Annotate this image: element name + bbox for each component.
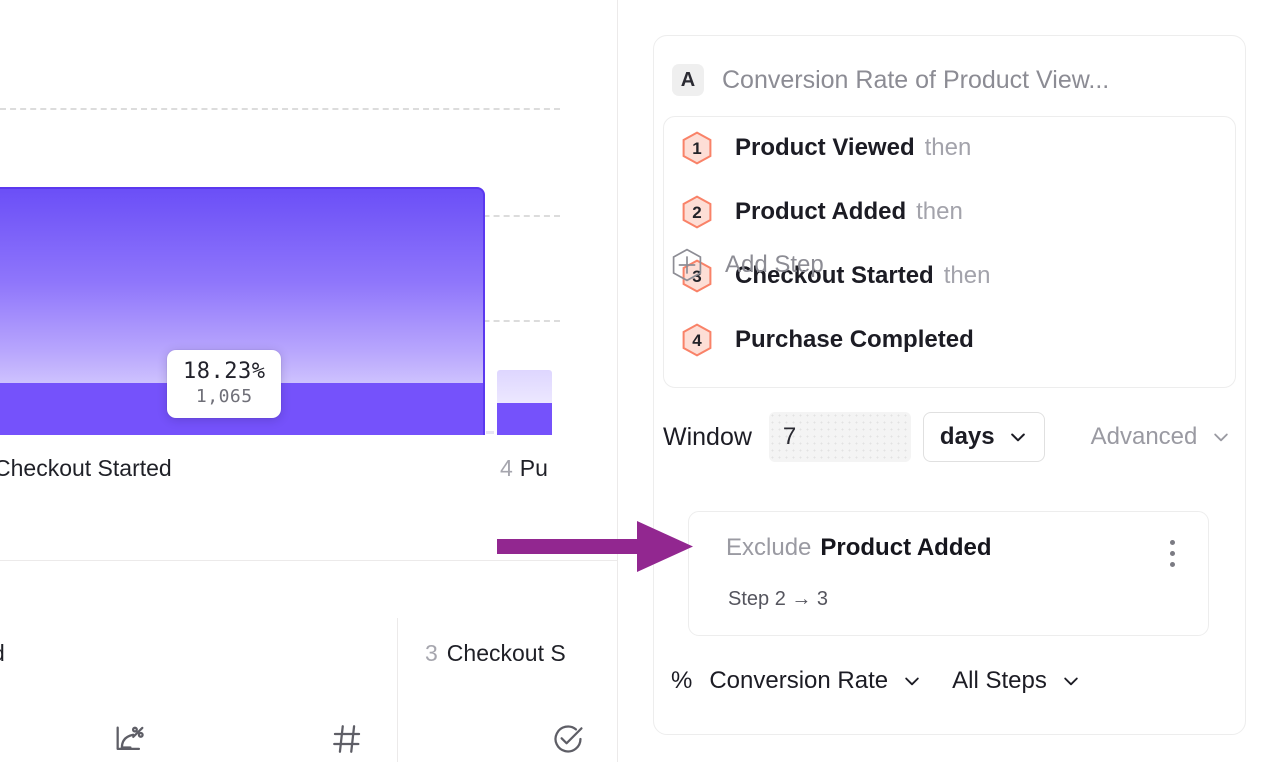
step-number-hexagon-icon: 2	[681, 195, 713, 229]
x-axis-labels: Checkout Started 4Pu	[0, 455, 617, 495]
section-divider-horizontal	[0, 560, 617, 561]
kebab-dot	[1170, 562, 1175, 567]
chevron-down-icon	[1008, 427, 1028, 447]
bar-converted-segment	[497, 403, 552, 435]
funnel-bars	[0, 0, 617, 440]
series-letter-badge: A	[672, 64, 704, 96]
exclusion-title: ExcludeProduct Added	[726, 534, 992, 562]
window-label: Window	[663, 423, 752, 452]
step-text-wrap: Purchase Completed	[735, 326, 984, 354]
step-event-name: Product Viewed	[735, 134, 915, 161]
funnel-chart-pane: 18.23% 1,065 Checkout Started 4Pu d 3Che…	[0, 0, 617, 762]
steps-scope-label: All Steps	[952, 667, 1047, 695]
step-event-name: Purchase Completed	[735, 326, 974, 353]
check-circle-icon[interactable]	[547, 718, 589, 760]
chart-tooltip: 18.23% 1,065	[167, 350, 281, 418]
step-connector: then	[916, 198, 963, 225]
x-axis-label-text: Pu	[520, 455, 548, 481]
funnel-config-pane: A Conversion Rate of Product View... 1 P…	[617, 0, 1264, 762]
chart-percent-icon[interactable]	[108, 718, 150, 760]
kebab-dot	[1170, 551, 1175, 556]
metric-type-label: Conversion Rate	[709, 667, 888, 695]
step-connector: then	[944, 262, 991, 289]
funnel-metric-footer: % Conversion Rate All Steps	[671, 661, 1081, 701]
funnel-title-row[interactable]: A Conversion Rate of Product View...	[672, 60, 1227, 100]
tooltip-percent: 18.23%	[183, 359, 265, 384]
funnel-step-4[interactable]: 4 Purchase Completed	[681, 323, 984, 357]
funnel-bar-purchase-completed[interactable]	[497, 370, 552, 435]
lower-label-truncated: d	[0, 640, 5, 667]
funnel-step-1[interactable]: 1 Product Viewedthen	[681, 131, 971, 165]
chevron-down-icon	[1061, 671, 1081, 691]
hash-icon[interactable]	[326, 718, 368, 760]
exclusion-step-range: Step 2 → 3	[728, 588, 828, 611]
step-number: 1	[692, 140, 701, 157]
screen-root: 18.23% 1,065 Checkout Started 4Pu d 3Che…	[0, 0, 1264, 762]
tooltip-count: 1,065	[183, 386, 265, 407]
funnel-definition-card: A Conversion Rate of Product View... 1 P…	[653, 35, 1246, 735]
step-text-wrap: Product Viewedthen	[735, 134, 971, 162]
x-axis-label-text: Checkout Started	[0, 455, 172, 481]
steps-scope-select[interactable]: All Steps	[952, 667, 1081, 695]
step-number-hexagon-icon: 4	[681, 323, 713, 357]
percent-icon: %	[671, 667, 692, 695]
conversion-window-row: Window days Advanced	[663, 411, 1231, 463]
chevron-down-icon	[1211, 427, 1231, 447]
add-step-button[interactable]: Add Step	[671, 248, 824, 282]
window-unit-label: days	[940, 423, 995, 451]
window-value-input[interactable]	[769, 412, 911, 462]
exclusion-card[interactable]: ExcludeProduct Added Step 2 → 3	[688, 511, 1209, 636]
add-step-hexagon-plus-icon	[671, 248, 703, 282]
lower-label-text: Checkout S	[447, 640, 566, 666]
step-connector: then	[925, 134, 972, 161]
advanced-options-toggle[interactable]: Advanced	[1091, 423, 1232, 451]
lower-label-index: 3	[425, 640, 438, 666]
step-text-wrap: Product Addedthen	[735, 198, 963, 226]
exclusion-more-options-icon[interactable]	[1160, 536, 1184, 570]
x-axis-label-index: 4	[500, 455, 513, 481]
step-number: 2	[692, 204, 701, 221]
kebab-dot	[1170, 540, 1175, 545]
section-divider-vertical	[397, 618, 398, 762]
window-unit-select[interactable]: days	[923, 412, 1045, 462]
lower-label-checkout-started: 3Checkout S	[425, 640, 566, 667]
exclusion-prefix: Exclude	[726, 534, 811, 561]
metric-type-select[interactable]: Conversion Rate	[709, 667, 922, 695]
chevron-down-icon	[902, 671, 922, 691]
step-number-hexagon-icon: 1	[681, 131, 713, 165]
step-number: 4	[692, 332, 701, 349]
funnel-step-2[interactable]: 2 Product Addedthen	[681, 195, 963, 229]
add-step-label: Add Step	[725, 251, 824, 279]
bar-gap-tick	[486, 431, 494, 434]
step-event-name: Product Added	[735, 198, 906, 225]
advanced-label: Advanced	[1091, 423, 1198, 451]
x-axis-label-checkout-started: Checkout Started	[0, 455, 172, 482]
exclusion-event-name: Product Added	[820, 534, 991, 561]
x-axis-label-purchase-completed: 4Pu	[500, 455, 548, 482]
funnel-title[interactable]: Conversion Rate of Product View...	[722, 66, 1109, 95]
